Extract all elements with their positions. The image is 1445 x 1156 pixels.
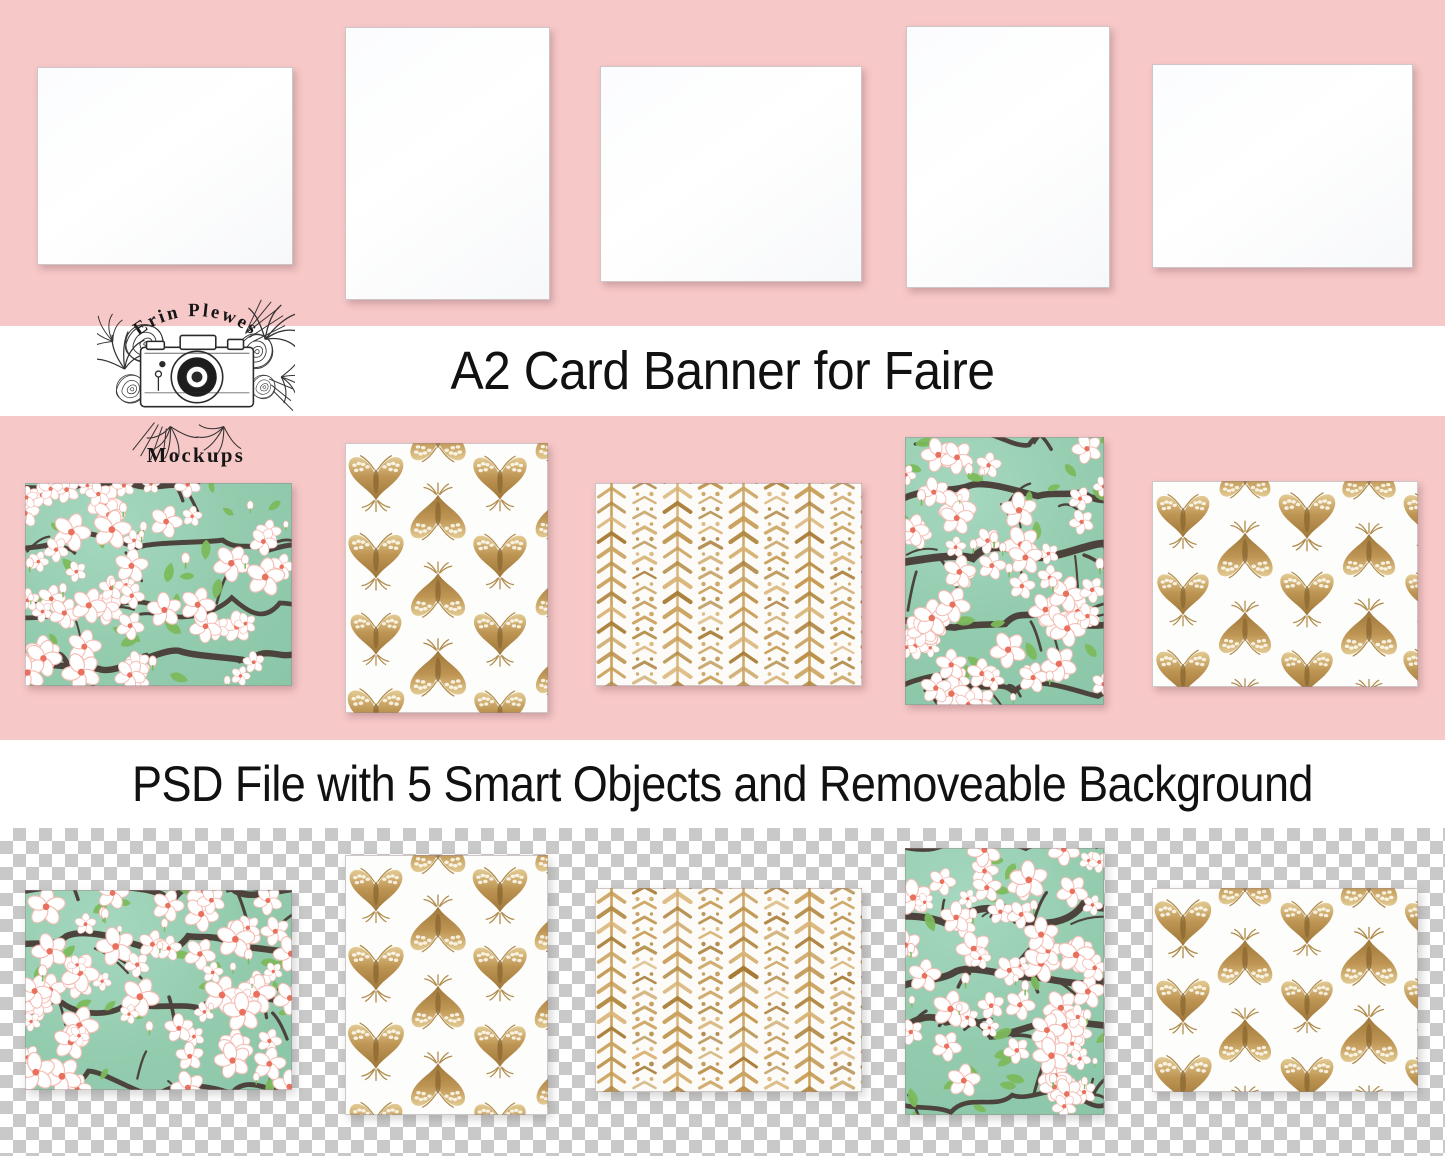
designed-cards-row-card-3-gold-chevron	[595, 483, 862, 686]
blank-cards-row-card-2-blank	[345, 27, 550, 300]
transparent-background-row-card-4-cherry-blossom-mint	[905, 848, 1104, 1115]
mockup-banner-canvas: A2 Card Banner for Faire PSD File with 5…	[0, 0, 1445, 1156]
designed-cards-row-card-2-gold-moths	[345, 443, 548, 713]
blank-cards-row-card-4-blank	[906, 26, 1110, 288]
page-title: A2 Card Banner for Faire	[58, 326, 1387, 416]
transparent-background-row-card-5-gold-moths	[1152, 888, 1418, 1092]
designed-cards-row-card-5-gold-moths	[1152, 481, 1418, 687]
designed-cards-row-card-4-cherry-blossom-mint	[905, 437, 1104, 705]
transparent-background-row-card-3-gold-chevron	[595, 888, 862, 1092]
blank-cards-row-card-3-blank	[600, 66, 862, 282]
page-subtitle: PSD File with 5 Smart Objects and Remove…	[72, 740, 1373, 828]
blank-cards-row-card-5-blank	[1152, 64, 1413, 268]
transparent-background-row-card-2-gold-moths	[345, 855, 548, 1115]
transparent-background-row-card-1-cherry-blossom-mint	[25, 890, 292, 1090]
designed-cards-row-card-1-cherry-blossom-mint	[25, 483, 292, 686]
blank-cards-row-card-1-blank	[37, 67, 293, 265]
